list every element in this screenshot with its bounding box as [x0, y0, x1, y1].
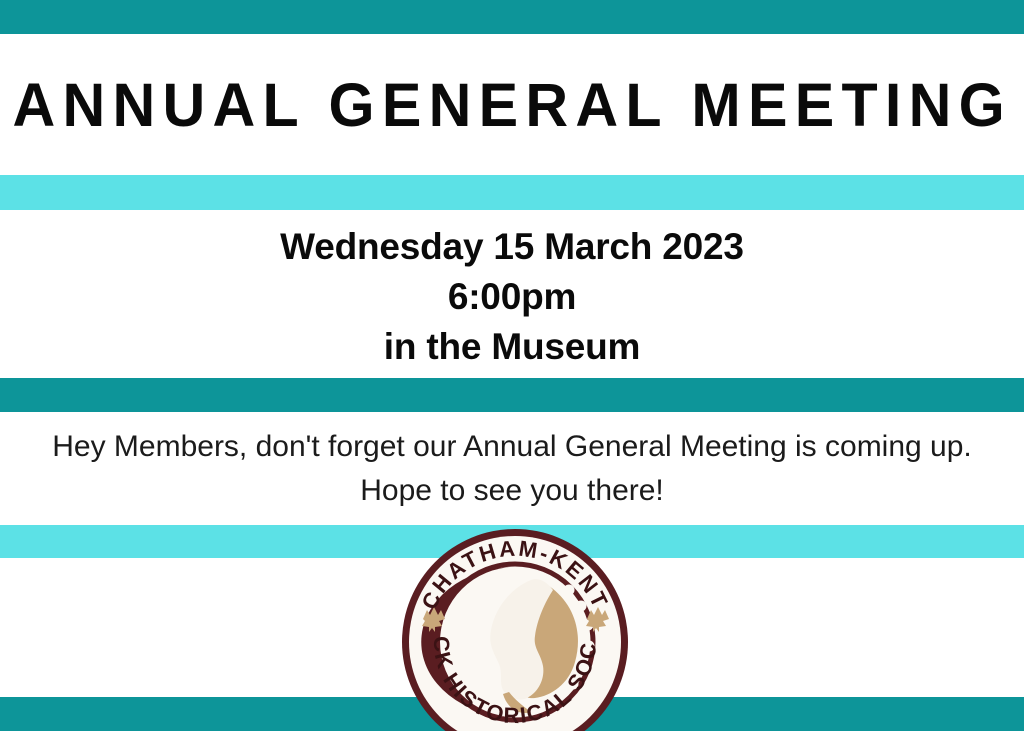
message-line-2: Hope to see you there! — [360, 469, 664, 513]
logo-svg: CHATHAM-KENT BLACK HISTORICAL SOCIETY ES… — [399, 526, 631, 731]
page-title: ANNUAL GENERAL MEETING — [12, 70, 1011, 140]
band-upper-cyan — [0, 175, 1024, 210]
title-section: ANNUAL GENERAL MEETING — [0, 34, 1024, 175]
event-location: in the Museum — [384, 322, 640, 372]
band-top-teal — [0, 0, 1024, 34]
message-section: Hey Members, don't forget our Annual Gen… — [0, 412, 1024, 525]
band-middle-teal — [0, 378, 1024, 412]
poster-canvas: ANNUAL GENERAL MEETING Wednesday 15 Marc… — [0, 0, 1024, 731]
organization-logo: CHATHAM-KENT BLACK HISTORICAL SOCIETY ES… — [399, 526, 631, 731]
event-time: 6:00pm — [448, 272, 576, 322]
event-date: Wednesday 15 March 2023 — [280, 222, 744, 272]
event-details-section: Wednesday 15 March 2023 6:00pm in the Mu… — [0, 210, 1024, 378]
message-line-1: Hey Members, don't forget our Annual Gen… — [52, 425, 972, 469]
